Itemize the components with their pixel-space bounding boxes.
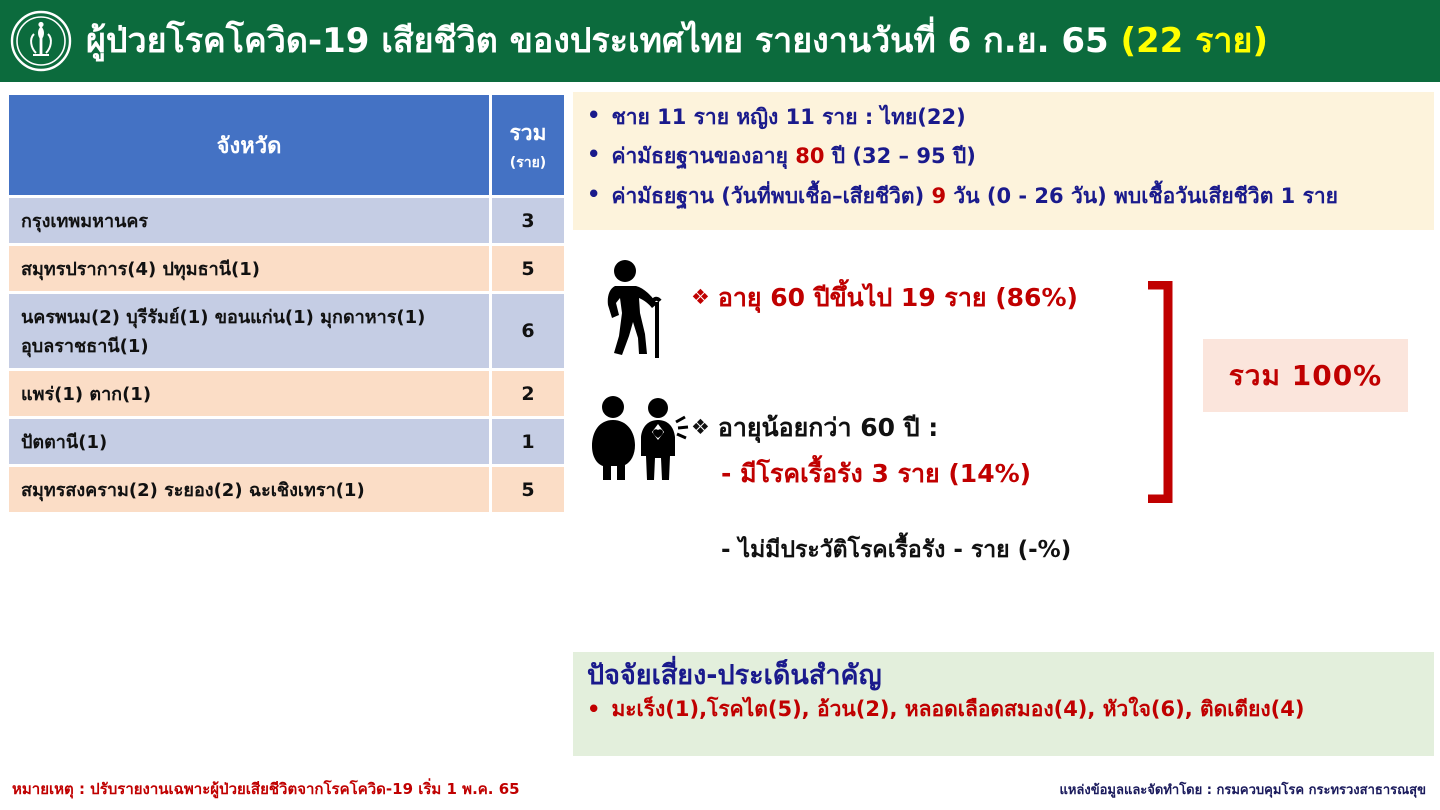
table-row[interactable]: แพร่(1) ตาก(1) 2 (9, 371, 564, 416)
age-over-60-line: ❖อายุ 60 ปีขึ้นไป 19 ราย (86%) (691, 278, 1078, 318)
bullet-dot-icon: • (587, 143, 600, 166)
summary-bullet: • ชาย 11 ราย หญิง 11 ราย : ไทย(22) (587, 104, 1420, 130)
total-percentage-box: รวม 100% (1203, 339, 1408, 412)
age-breakdown-section: ❖อายุ 60 ปีขึ้นไป 19 ราย (86%) ❖อายุน้อย… (573, 236, 1434, 648)
risk-factors-title: ปัจจัยเสี่ยง-ประเด็นสำคัญ (587, 660, 1420, 691)
summary-bullet: • ค่ามัธยฐาน (วันที่พบเชื้อ–เสียชีวิต) 9… (587, 183, 1420, 209)
diamond-bullet-icon: ❖ (691, 285, 710, 309)
cell-province: ปัตตานี(1) (9, 419, 489, 464)
column-header-province: จังหวัด (9, 95, 489, 195)
slide-root: ผู้ป่วยโรคโควิด-19 เสียชีวิต ของประเทศไท… (0, 0, 1440, 810)
table-header-row: จังหวัด รวม (ราย) (9, 95, 564, 195)
summary-bullet-text: ชาย 11 ราย หญิง 11 ราย : ไทย(22) (611, 105, 965, 129)
cell-total: 2 (492, 371, 564, 416)
table-row[interactable]: สมุทรสงคราม(2) ระยอง(2) ฉะเชิงเทรา(1) 5 (9, 467, 564, 512)
cell-total: 5 (492, 246, 564, 291)
footnote-right: แหล่งข้อมูลและจัดทำโดย : กรมควบคุมโรค กร… (1059, 779, 1426, 800)
moph-emblem-icon (10, 10, 72, 72)
cell-province: แพร่(1) ตาก(1) (9, 371, 489, 416)
grouping-bracket-icon (1148, 281, 1176, 503)
page-title: ผู้ป่วยโรคโควิด-19 เสียชีวิต ของประเทศไท… (86, 24, 1268, 58)
summary-bullet-post: วัน (0 - 26 วัน) พบเชื้อวันเสียชีวิต 1 ร… (946, 184, 1338, 208)
page-header: ผู้ป่วยโรคโควิด-19 เสียชีวิต ของประเทศไท… (0, 0, 1440, 82)
summary-box: • ชาย 11 ราย หญิง 11 ราย : ไทย(22) • ค่า… (573, 92, 1434, 230)
summary-bullet-value: 80 (795, 144, 824, 168)
two-persons-chronic-illness-icon (586, 394, 690, 484)
total-percentage-label: รวม 100% (1229, 354, 1382, 398)
column-header-total: รวม (ราย) (492, 95, 564, 195)
cell-total: 1 (492, 419, 564, 464)
no-chronic-disease-line: - ไม่มีประวัติโรคเรื้อรัง - ราย (-%) (721, 532, 1071, 568)
chronic-disease-line: - มีโรคเรื้อรัง 3 ราย (14%) (721, 454, 1031, 494)
elderly-person-with-cane-icon (595, 258, 673, 360)
diamond-bullet-icon: ❖ (691, 415, 710, 439)
age-under-60-text: อายุน้อยกว่า 60 ปี : (718, 413, 938, 442)
cell-province: สมุทรปราการ(4) ปทุมธานี(1) (9, 246, 489, 291)
cell-province: นครพนม(2) บุรีรัมย์(1) ขอนแก่น(1) มุกดาห… (9, 294, 489, 368)
summary-bullet-pre: ค่ามัธยฐานของอายุ (611, 144, 795, 168)
footnote-left: หมายเหตุ : ปรับรายงานเฉพาะผู้ป่วยเสียชีว… (12, 777, 520, 801)
risk-factors-bullet: • มะเร็ง(1),โรคไต(5), อ้วน(2), หลอดเลือด… (587, 697, 1420, 722)
cell-total: 5 (492, 467, 564, 512)
summary-bullet: • ค่ามัธยฐานของอายุ 80 ปี (32 – 95 ปี) (587, 143, 1420, 169)
cell-province: กรุงเทพมหานคร (9, 198, 489, 243)
table-row[interactable]: ปัตตานี(1) 1 (9, 419, 564, 464)
province-table: จังหวัด รวม (ราย) กรุงเทพมหานคร 3 สมุทรป… (6, 92, 567, 515)
table-row[interactable]: กรุงเทพมหานคร 3 (9, 198, 564, 243)
bullet-dot-icon: • (587, 104, 600, 127)
age-under-60-line: ❖อายุน้อยกว่า 60 ปี : (691, 408, 938, 448)
table-row[interactable]: สมุทรปราการ(4) ปทุมธานี(1) 5 (9, 246, 564, 291)
summary-bullet-post: ปี (32 – 95 ปี) (824, 144, 975, 168)
page-title-main: ผู้ป่วยโรคโควิด-19 เสียชีวิต ของประเทศไท… (86, 21, 1120, 61)
risk-factors-box: ปัจจัยเสี่ยง-ประเด็นสำคัญ • มะเร็ง(1),โร… (573, 652, 1434, 756)
column-header-total-unit: (ราย) (496, 152, 560, 174)
bullet-dot-icon: • (587, 697, 600, 722)
cell-total: 6 (492, 294, 564, 368)
province-table-container: จังหวัด รวม (ราย) กรุงเทพมหานคร 3 สมุทรป… (6, 92, 566, 515)
age-over-60-text: อายุ 60 ปีขึ้นไป 19 ราย (86%) (718, 283, 1078, 312)
table-row[interactable]: นครพนม(2) บุรีรัมย์(1) ขอนแก่น(1) มุกดาห… (9, 294, 564, 368)
page-title-count: (22 ราย) (1120, 21, 1268, 61)
cell-province: สมุทรสงคราม(2) ระยอง(2) ฉะเชิงเทรา(1) (9, 467, 489, 512)
summary-bullet-pre: ค่ามัธยฐาน (วันที่พบเชื้อ–เสียชีวิต) (611, 184, 931, 208)
cell-total: 3 (492, 198, 564, 243)
column-header-total-label: รวม (510, 121, 547, 145)
summary-bullet-value: 9 (931, 184, 946, 208)
risk-factors-text: มะเร็ง(1),โรคไต(5), อ้วน(2), หลอดเลือดสม… (611, 697, 1304, 722)
bullet-dot-icon: • (587, 183, 600, 206)
